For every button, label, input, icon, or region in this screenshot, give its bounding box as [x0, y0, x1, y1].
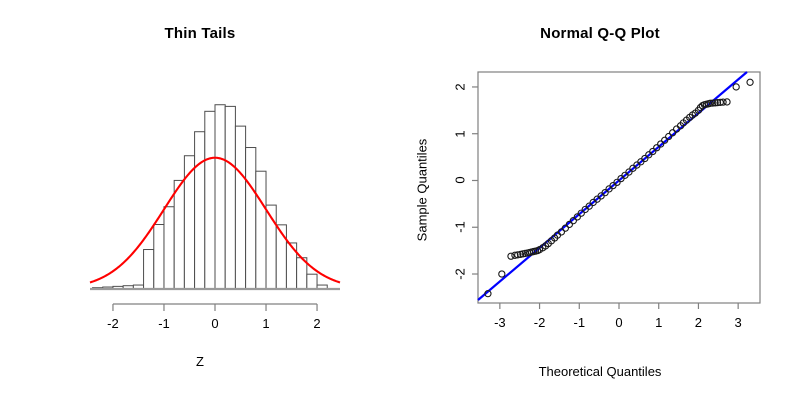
- histogram-x-axis: [90, 289, 340, 311]
- histogram-bar: [164, 207, 174, 289]
- qq-ylabel: Sample Quantiles: [416, 139, 429, 242]
- qq-point: [733, 84, 739, 90]
- histogram-bar: [174, 180, 184, 289]
- qq-y-tick-label: -2: [454, 268, 467, 280]
- histogram-x-tick-label: 0: [211, 317, 218, 330]
- qq-point: [724, 99, 730, 105]
- qq-y-tick-label: 0: [454, 177, 467, 184]
- qq-panel: Normal Q-Q Plot -3-2-10123 -2-1012 Theor…: [400, 0, 800, 400]
- histogram-bar: [235, 126, 245, 289]
- qq-x-tick-label: -1: [574, 316, 586, 329]
- histogram-x-tick-label: 2: [313, 317, 320, 330]
- histogram-bar: [184, 156, 194, 289]
- histogram-bar: [215, 105, 225, 289]
- qq-y-tick-label: 1: [454, 130, 467, 137]
- qq-y-tick-label: 2: [454, 83, 467, 90]
- histogram-x-tick-label: -1: [158, 317, 170, 330]
- qq-axis-ticks: [472, 87, 738, 309]
- qq-x-tick-label: -3: [494, 316, 506, 329]
- histogram-xlabel: Z: [0, 355, 400, 368]
- histogram-bar: [205, 111, 215, 289]
- histogram-bar: [225, 106, 235, 289]
- qq-y-tick-label: -1: [454, 221, 467, 233]
- histogram-x-tick-label: -2: [107, 317, 119, 330]
- histogram-canvas: [0, 0, 400, 400]
- figure-root: Thin Tails -2-1012 Z Normal Q-Q Plot -3-…: [0, 0, 800, 400]
- histogram-bar: [256, 171, 266, 289]
- histogram-bar: [144, 250, 154, 289]
- histogram-panel: Thin Tails -2-1012 Z: [0, 0, 400, 400]
- qq-x-tick-label: 3: [735, 316, 742, 329]
- histogram-bar: [195, 132, 205, 289]
- histogram-bar: [154, 225, 164, 289]
- histogram-bar: [276, 225, 286, 289]
- qq-x-tick-label: 2: [695, 316, 702, 329]
- qq-x-tick-label: -2: [534, 316, 546, 329]
- qq-xlabel: Theoretical Quantiles: [400, 365, 800, 378]
- qq-point: [747, 79, 753, 85]
- qq-canvas: [400, 0, 800, 400]
- qq-point: [499, 271, 505, 277]
- histogram-bar: [307, 274, 317, 289]
- qq-data-points: [485, 79, 753, 297]
- qq-x-tick-label: 0: [615, 316, 622, 329]
- qq-plot-box: [478, 72, 760, 303]
- qq-x-tick-label: 1: [655, 316, 662, 329]
- histogram-bars: [93, 105, 328, 289]
- histogram-x-tick-label: 1: [262, 317, 269, 330]
- histogram-bar: [246, 148, 256, 289]
